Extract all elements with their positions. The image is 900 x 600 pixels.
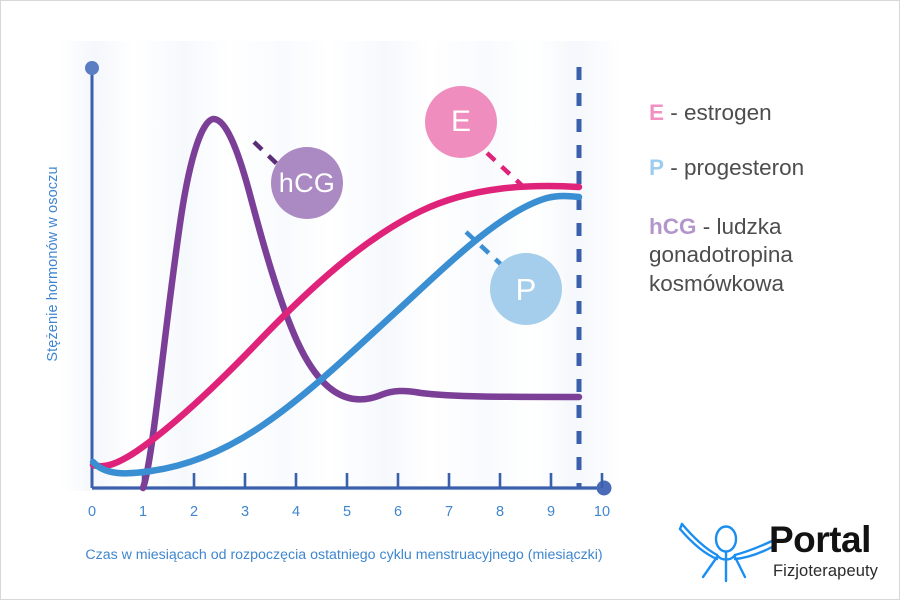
legend-item-progesteron: P - progesteron — [649, 154, 885, 183]
x-tick-label-10: 10 — [587, 504, 617, 520]
brand-logo[interactable]: Portal Fizjoterapeuty — [673, 517, 888, 589]
legend-key-hcg: hCG — [649, 214, 697, 239]
legend-dash-progesteron: - — [670, 155, 678, 180]
legend-item-estrogen: E - estrogen — [649, 99, 885, 128]
legend-text-hcg-line1: ludzka — [717, 214, 782, 239]
infographic-canvas: hCG E P Stężenie hormonów w osoczu Czas … — [0, 0, 900, 600]
y-axis-cap-dot — [85, 61, 99, 75]
x-tick-label-7: 7 — [434, 504, 464, 520]
bubble-label-estrogen: E — [451, 107, 471, 137]
legend: E - estrogen P - progesteron hCG - ludzk… — [649, 99, 885, 299]
x-tick-label-5: 5 — [332, 504, 362, 520]
legend-text-hcg-line2: gonadotropina — [649, 241, 885, 270]
legend-dash-hcg: - — [703, 214, 711, 239]
x-tick-marks — [92, 473, 602, 488]
logo-wordmark: Portal — [769, 521, 871, 558]
x-tick-label-2: 2 — [179, 504, 209, 520]
series-bubble-estrogen[interactable]: E — [425, 86, 497, 158]
series-bubble-progesterone[interactable]: P — [490, 253, 562, 325]
y-axis-label: Stężenie hormonów w osoczu — [45, 134, 61, 394]
x-tick-label-4: 4 — [281, 504, 311, 520]
legend-key-progesteron: P — [649, 155, 664, 180]
x-tick-label-9: 9 — [536, 504, 566, 520]
x-axis-cap-dot — [597, 481, 612, 496]
legend-text-progesteron: progesteron — [684, 155, 804, 180]
x-axis-label: Czas w miesiącach od rozpoczęcia ostatni… — [61, 547, 627, 563]
x-tick-label-6: 6 — [383, 504, 413, 520]
logo-subtitle: Fizjoterapeuty — [773, 563, 878, 580]
series-bubble-hcg[interactable]: hCG — [271, 147, 343, 219]
bubble-label-hcg: hCG — [279, 170, 335, 197]
legend-key-estrogen: E — [649, 100, 664, 125]
x-tick-label-0: 0 — [77, 504, 107, 520]
x-tick-label-3: 3 — [230, 504, 260, 520]
legend-text-estrogen: estrogen — [684, 100, 772, 125]
bubble-label-progesterone: P — [516, 274, 537, 305]
legend-item-hcg: hCG - ludzka gonadotropina kosmówkowa — [649, 213, 885, 299]
x-tick-label-1: 1 — [128, 504, 158, 520]
legend-dash-estrogen: - — [670, 100, 678, 125]
x-tick-label-8: 8 — [485, 504, 515, 520]
legend-text-hcg-line3: kosmówkowa — [649, 270, 885, 299]
stick-figure-icon — [673, 519, 778, 585]
